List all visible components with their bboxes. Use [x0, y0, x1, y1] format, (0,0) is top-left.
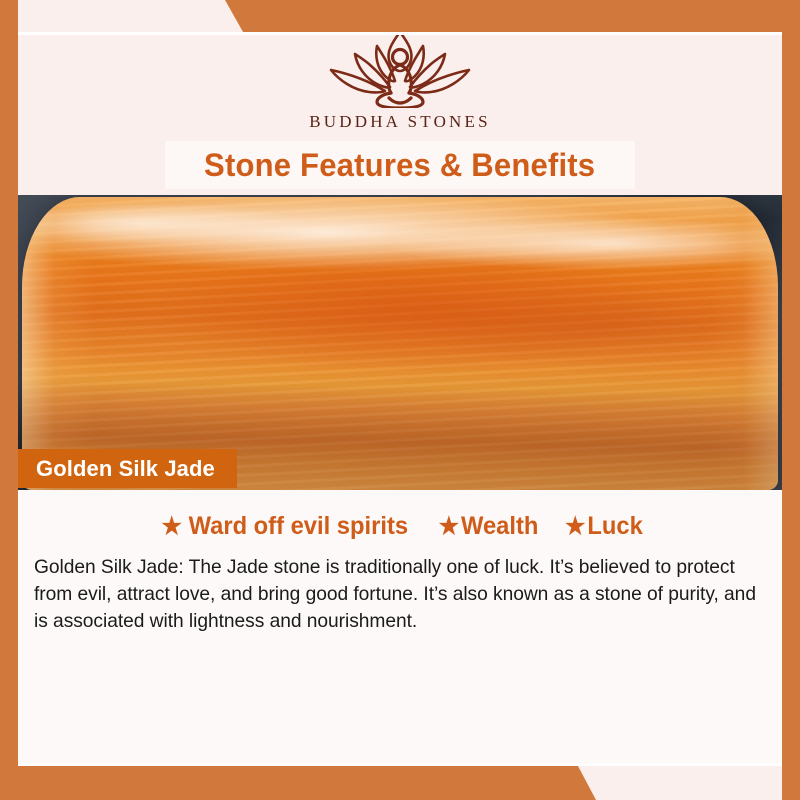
- benefit-label: Luck: [588, 512, 643, 541]
- brand-name: BUDDHA STONES: [309, 112, 491, 132]
- brand-logo: BUDDHA STONES: [0, 26, 800, 132]
- description-text: Golden Silk Jade: The Jade stone is trad…: [34, 554, 761, 635]
- benefit-label: Ward off evil spirits: [188, 512, 408, 541]
- product-image: [0, 195, 800, 490]
- star-icon: ★: [439, 515, 459, 539]
- infographic-card: BUDDHA STONES Stone Features & Benefits …: [0, 0, 800, 800]
- product-name-label: Golden Silk Jade: [36, 456, 215, 482]
- frame-left-bar: [0, 0, 18, 800]
- benefits-list: ★ Ward off evil spirits ★ Wealth ★ Luck: [18, 512, 782, 541]
- frame-bottom-rule: [18, 763, 782, 766]
- benefit-item-3: ★ Luck: [565, 512, 643, 541]
- page-title-box: Stone Features & Benefits: [165, 141, 635, 189]
- benefit-item-1: ★ Ward off evil spirits: [161, 512, 408, 541]
- lotus-meditation-icon: [315, 26, 485, 108]
- golden-silk-jade-stone: [22, 197, 778, 490]
- star-icon: ★: [161, 515, 181, 539]
- benefit-label: Wealth: [461, 512, 538, 541]
- star-icon: ★: [565, 515, 585, 539]
- benefit-item-2: ★ Wealth: [439, 512, 539, 541]
- frame-right-bar: [782, 0, 800, 800]
- frame-bottom-bar: [0, 766, 800, 800]
- product-name-ribbon: Golden Silk Jade: [18, 449, 237, 488]
- stone-gloss-highlight: [22, 197, 778, 257]
- frame-top-rule: [18, 32, 782, 35]
- content-section: ★ Ward off evil spirits ★ Wealth ★ Luck …: [18, 490, 782, 766]
- page-title: Stone Features & Benefits: [204, 147, 595, 184]
